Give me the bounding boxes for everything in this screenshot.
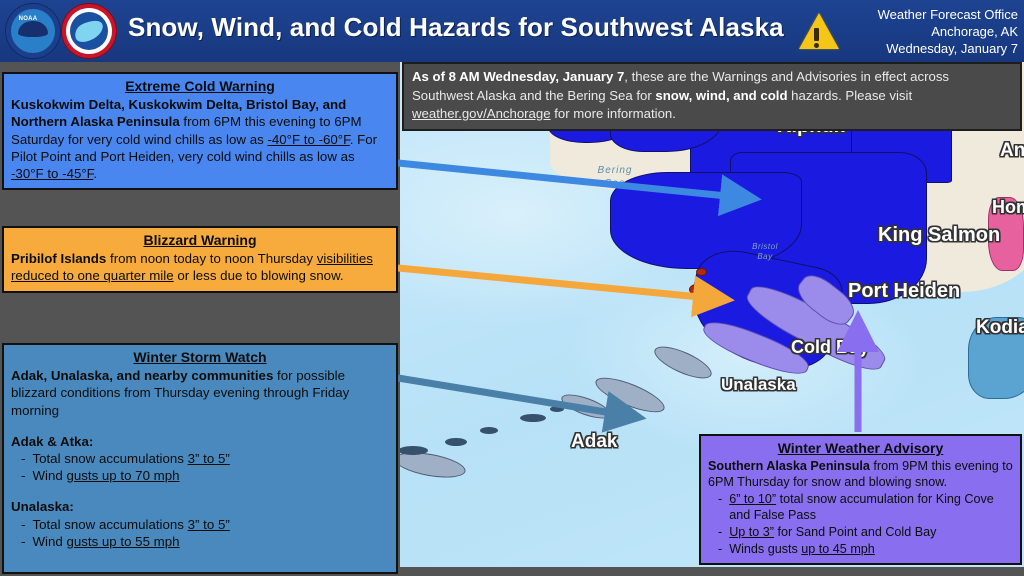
map-label-kodiak: Kodia xyxy=(976,317,1024,339)
info-part2: hazards. Please visit xyxy=(788,88,913,103)
spacer xyxy=(11,419,389,433)
advisory-list: -6” to 10” total snow accumulation for K… xyxy=(708,491,1013,557)
item-pre: Winds gusts xyxy=(729,542,801,556)
item-value: 3” to 5” xyxy=(188,451,230,466)
weather-gov-link[interactable]: weather.gov/Anchorage xyxy=(412,106,551,121)
map-label-port-heiden: Port Heiden xyxy=(848,280,960,303)
map-label-homer: Hom xyxy=(992,197,1024,218)
winter-storm-watch-box: Winter Storm Watch Adak, Unalaska, and n… xyxy=(2,343,398,574)
issue-date: Wednesday, January 7 xyxy=(878,40,1018,57)
item-pre: Total snow accumulations xyxy=(32,517,187,532)
page-title: Snow, Wind, and Cold Hazards for Southwe… xyxy=(128,12,784,43)
bering-sea-label: BeringSea xyxy=(580,164,650,190)
item-pre: Total snow accumulations xyxy=(32,451,187,466)
item-value: 3” to 5” xyxy=(188,517,230,532)
island-chain-5 xyxy=(550,406,564,412)
map-label-anchorage: An xyxy=(1000,140,1024,162)
advisory-areas: Southern Alaska Peninsula xyxy=(708,459,870,473)
office-location: Anchorage, AK xyxy=(878,23,1018,40)
adak-atka-list: -Total snow accumulations 3” to 5” -Wind… xyxy=(11,450,389,484)
office-name: Weather Forecast Office xyxy=(878,6,1018,23)
bullet-dash: - xyxy=(21,450,25,467)
summary-info-box: As of 8 AM Wednesday, January 7, these a… xyxy=(402,62,1022,131)
bullet-dash: - xyxy=(718,491,722,524)
blizzard-body1: from noon today to noon Thursday xyxy=(106,251,316,266)
blizzard-areas: Pribilof Islands xyxy=(11,251,106,266)
zone-pribilof-st-paul xyxy=(696,268,707,276)
extreme-cold-value2: -30°F to -45°F xyxy=(11,166,93,181)
map-label-adak: Adak xyxy=(571,431,617,453)
map-label-unalaska: Unalaska xyxy=(721,375,796,395)
section-heading-adak-atka: Adak & Atka: xyxy=(11,433,389,450)
item-post: for Sand Point and Cold Bay xyxy=(774,525,936,539)
item-value: 6” to 10” xyxy=(729,492,776,506)
item-pre: Wind xyxy=(32,468,66,483)
map-label-king-salmon: King Salmon xyxy=(878,224,1000,247)
winter-storm-title: Winter Storm Watch xyxy=(11,349,389,366)
list-item: -Wind gusts up to 55 mph xyxy=(11,533,389,550)
bullet-dash: - xyxy=(718,524,722,541)
map-label-cold-bay: Cold Bay xyxy=(791,337,869,358)
winter-weather-advisory-box: Winter Weather Advisory Southern Alaska … xyxy=(699,434,1022,565)
section-heading-unalaska: Unalaska: xyxy=(11,498,389,515)
item-value: gusts up to 55 mph xyxy=(66,534,179,549)
list-item: -Total snow accumulations 3” to 5” xyxy=(11,516,389,533)
bullet-dash: - xyxy=(718,541,722,558)
extreme-cold-warning-box: Extreme Cold Warning Kuskokwim Delta, Ku… xyxy=(2,72,398,190)
list-item: -Up to 3” for Sand Point and Cold Bay xyxy=(708,524,1013,541)
item-pre: Wind xyxy=(32,534,66,549)
island-chain-3 xyxy=(445,438,467,446)
advisory-title: Winter Weather Advisory xyxy=(708,440,1013,457)
island-chain-2 xyxy=(480,427,498,434)
winter-storm-areas: Adak, Unalaska, and nearby communities xyxy=(11,368,273,383)
extreme-cold-value1: -40°F to -60°F xyxy=(267,132,349,147)
nws-logo-icon xyxy=(62,4,116,58)
bullet-dash: - xyxy=(21,467,25,484)
list-item: -Winds gusts up to 45 mph xyxy=(708,541,1013,558)
info-part3: for more information. xyxy=(551,106,676,121)
extreme-cold-body3: . xyxy=(93,166,97,181)
spacer xyxy=(11,484,389,498)
item-value: Up to 3” xyxy=(729,525,774,539)
bullet-dash: - xyxy=(21,516,25,533)
blizzard-body2: or less due to blowing snow. xyxy=(174,268,344,283)
list-item: -6” to 10” total snow accumulation for K… xyxy=(708,491,1013,524)
island-chain-1 xyxy=(520,414,546,422)
list-item: -Wind gusts up to 70 mph xyxy=(11,467,389,484)
item-value: gusts up to 70 mph xyxy=(66,468,179,483)
blizzard-title: Blizzard Warning xyxy=(11,232,389,249)
noaa-logo-icon: NOAA xyxy=(6,4,60,58)
bullet-dash: - xyxy=(21,533,25,550)
warning-exclamation-bar xyxy=(814,28,819,41)
extreme-cold-title: Extreme Cold Warning xyxy=(11,78,389,95)
warning-triangle-icon xyxy=(799,13,839,49)
warning-exclamation-dot xyxy=(814,43,819,48)
list-item: -Total snow accumulations 3” to 5” xyxy=(11,450,389,467)
info-lead: As of 8 AM Wednesday, January 7 xyxy=(412,69,624,84)
zone-pribilof-islands xyxy=(689,284,705,295)
bristol-bay-label: BristolBay xyxy=(735,242,795,262)
info-emphasis: snow, wind, and cold xyxy=(655,88,787,103)
header-bar: NOAA Snow, Wind, and Cold Hazards for So… xyxy=(0,0,1024,62)
forecast-office-info: Weather Forecast Office Anchorage, AK We… xyxy=(878,6,1018,57)
blizzard-warning-box: Blizzard Warning Pribilof Islands from n… xyxy=(2,226,398,293)
unalaska-list: -Total snow accumulations 3” to 5” -Wind… xyxy=(11,516,389,550)
weather-graphic: BeringSea BristolBay Bethel Kipnuk King … xyxy=(0,0,1024,576)
item-value: up to 45 mph xyxy=(801,542,875,556)
